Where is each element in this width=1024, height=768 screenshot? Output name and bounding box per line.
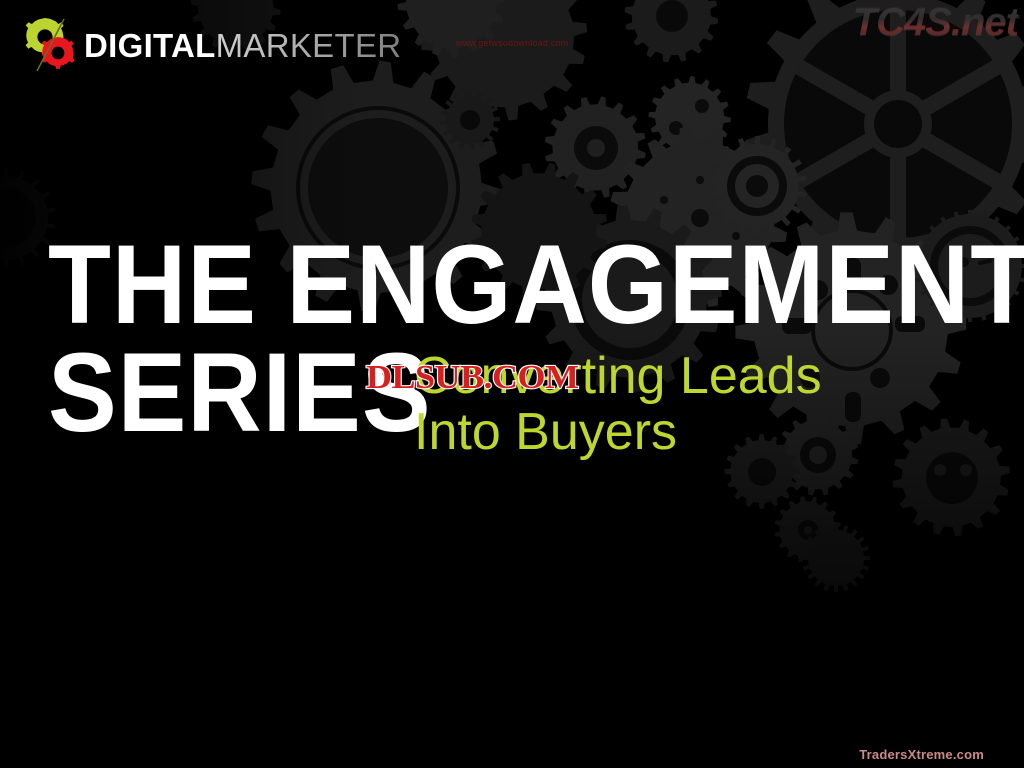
logo-word-marketer: MARKETER: [216, 27, 402, 64]
watermark-tradersxtreme: TradersXtreme.com: [859, 747, 984, 762]
watermark-tc4s: TC4S.net: [853, 2, 1018, 42]
logo-wordmark: DIGITALMARKETER: [84, 29, 401, 62]
slide-title-block: THE ENGAGEMENT SERIES Converting Leads I…: [48, 238, 988, 470]
logo-word-digital: DIGITAL: [84, 27, 216, 64]
page-title-line-1: THE ENGAGEMENT: [48, 238, 913, 332]
gear-logo-icon: [24, 17, 80, 73]
watermark-getwsodownload: www.getwsodownload.com: [456, 38, 568, 48]
slide-subtitle-line-2: Into Buyers: [414, 404, 822, 460]
presentation-slide: DIGITALMARKETER www.getwsodownload.com T…: [0, 0, 1024, 768]
digital-marketer-logo: DIGITALMARKETER: [24, 16, 401, 74]
watermark-dlsub: DLSUB.COM: [366, 361, 578, 395]
